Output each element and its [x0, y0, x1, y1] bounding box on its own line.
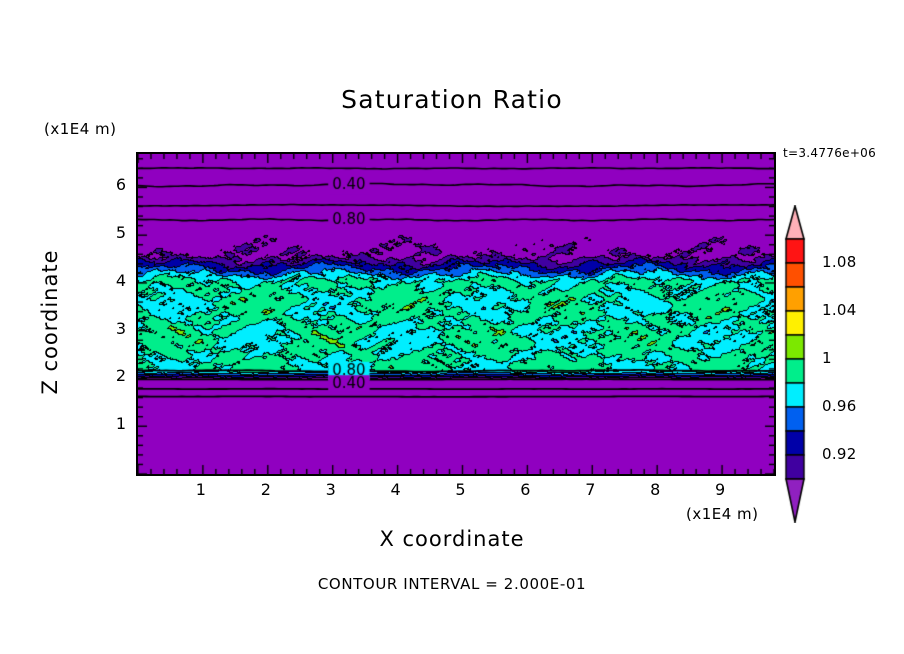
x-tick-7: 7: [575, 480, 605, 499]
contour-interval-caption: CONTOUR INTERVAL = 2.000E-01: [0, 575, 904, 593]
contour-plot-area[interactable]: [136, 152, 776, 476]
colorbar-tick-0.96: 0.96: [822, 397, 857, 415]
colorbar-gradient: [778, 205, 818, 523]
colorbar[interactable]: 1.081.0410.960.92: [778, 205, 818, 523]
x-tick-9: 9: [705, 480, 735, 499]
x-tick-4: 4: [381, 480, 411, 499]
y-axis-unit-label: (x1E4 m): [44, 120, 117, 138]
colorbar-tick-1.04: 1.04: [822, 301, 857, 319]
page-title: Saturation Ratio: [0, 85, 904, 114]
y-tick-5: 5: [102, 223, 126, 242]
x-axis-unit-label: (x1E4 m): [686, 505, 759, 523]
y-axis-title: Z coordinate: [38, 212, 62, 432]
time-stamp-label: t=3.4776e+06: [783, 146, 876, 160]
contour-field-canvas: [138, 154, 774, 474]
y-tick-6: 6: [102, 175, 126, 194]
x-tick-6: 6: [510, 480, 540, 499]
colorbar-tick-1: 1: [822, 349, 832, 367]
x-tick-3: 3: [316, 480, 346, 499]
y-tick-1: 1: [102, 414, 126, 433]
y-tick-2: 2: [102, 366, 126, 385]
x-tick-8: 8: [640, 480, 670, 499]
x-tick-2: 2: [251, 480, 281, 499]
x-tick-1: 1: [186, 480, 216, 499]
colorbar-tick-0.92: 0.92: [822, 445, 857, 463]
x-tick-5: 5: [445, 480, 475, 499]
y-tick-3: 3: [102, 319, 126, 338]
y-tick-4: 4: [102, 271, 126, 290]
x-axis-title: X coordinate: [0, 527, 904, 551]
colorbar-tick-1.08: 1.08: [822, 253, 857, 271]
